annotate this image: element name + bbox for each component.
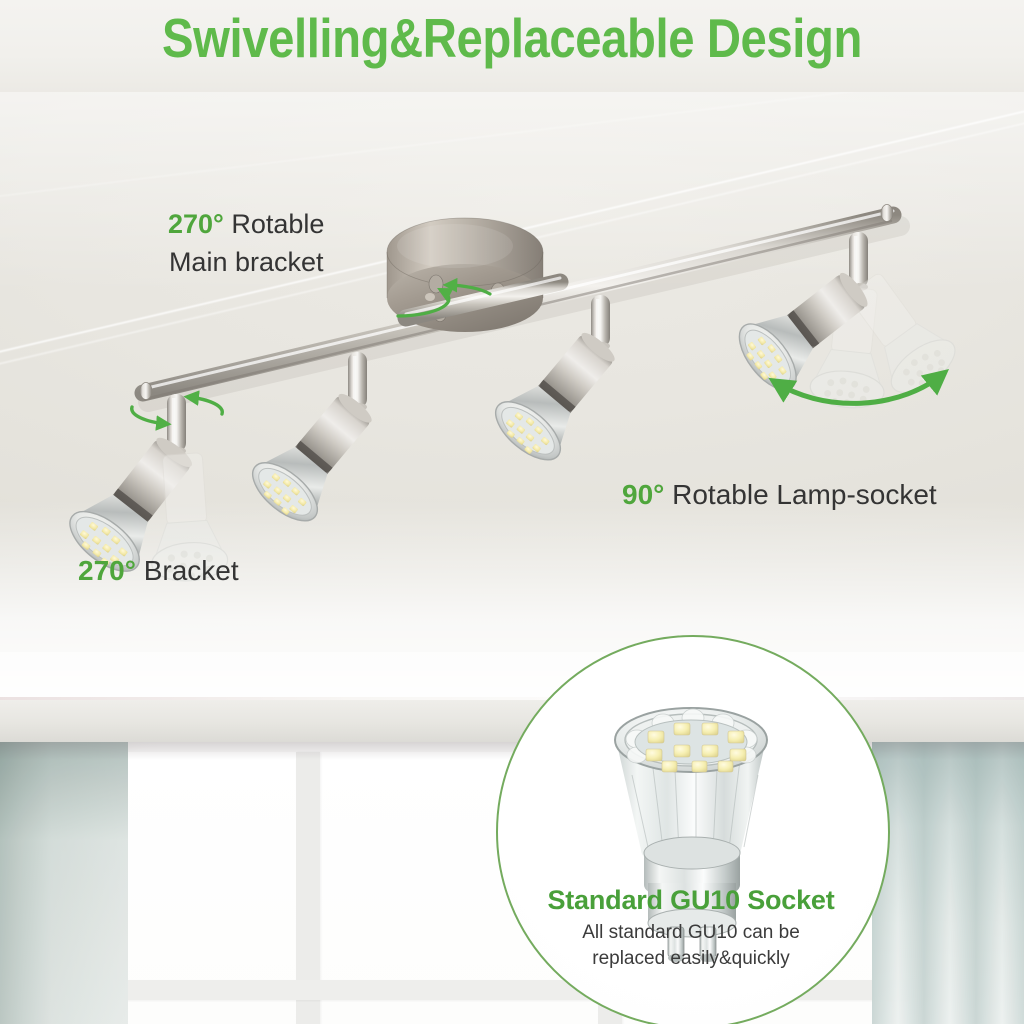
wall-glow — [0, 500, 1024, 720]
lamp-socket-degrees: 90° — [622, 479, 664, 510]
gu10-callout-subtitle-line2: replaced easily&quickly — [592, 948, 790, 969]
bracket-label: Bracket — [144, 555, 239, 586]
soffit-band — [0, 700, 1024, 742]
gu10-callout-title: Standard GU10 Socket — [496, 885, 886, 916]
main-bracket-degrees: 270° — [168, 209, 224, 239]
gu10-callout-subtitle-line1: All standard GU10 can be — [582, 922, 800, 943]
gu10-callout-text: Standard GU10 Socket All standard GU10 c… — [496, 885, 886, 972]
page-title: Swivelling&Replaceable Design — [72, 6, 953, 70]
curtain-left — [0, 742, 128, 1024]
ceiling-highlight — [0, 92, 1024, 292]
annotation-main-bracket: 270° Rotable Main bracket — [168, 205, 324, 281]
annotation-lamp-socket: 90° Rotable Lamp-socket — [622, 479, 937, 511]
header-band: Swivelling&Replaceable Design — [0, 0, 1024, 92]
product-infographic: 270° Rotable Main bracket 90° Rotable La… — [0, 0, 1024, 1024]
bracket-degrees: 270° — [78, 555, 136, 586]
main-bracket-label-line1: Rotable — [231, 209, 324, 239]
curtain-right — [872, 742, 1024, 1024]
lamp-socket-label: Rotable Lamp-socket — [672, 479, 937, 510]
annotation-bracket: 270° Bracket — [78, 555, 239, 587]
main-bracket-label-line2: Main bracket — [168, 243, 324, 281]
